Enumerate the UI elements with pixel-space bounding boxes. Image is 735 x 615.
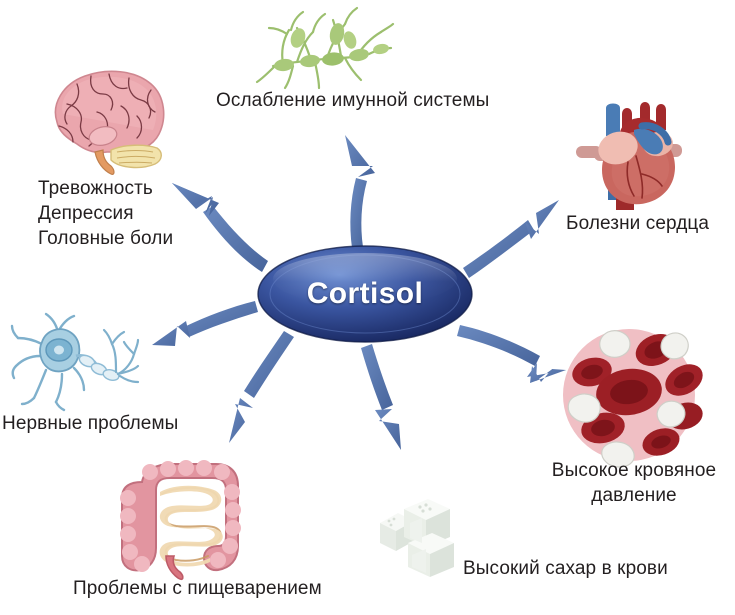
label-mental-line1: Тревожность	[38, 176, 173, 201]
heart-icon	[556, 96, 686, 212]
label-mental-line3: Головные боли	[38, 226, 173, 251]
arrow-to-blood-sugar	[361, 344, 401, 450]
cortisol-ellipse	[257, 245, 473, 343]
arrow-to-mental	[172, 183, 268, 272]
cortisol-diagram: Cortisol	[0, 0, 735, 615]
label-mental-line2: Депрессия	[38, 201, 173, 226]
brain-icon	[33, 60, 173, 178]
blood-cells-icon	[562, 328, 696, 462]
immune-cells-icon	[253, 4, 393, 92]
label-heart: Болезни сердца	[566, 211, 709, 236]
label-digestion: Проблемы с пищеварением	[73, 576, 322, 601]
label-immune: Ослабление имунной системы	[216, 88, 489, 113]
intestine-icon	[112, 458, 248, 584]
arrow-to-digestion	[229, 331, 294, 443]
arrow-to-immune	[345, 135, 375, 248]
arrow-to-nerves	[152, 301, 258, 346]
label-blood-pressure-line1: Высокое кровяное	[534, 458, 734, 483]
label-nerves: Нервные проблемы	[2, 411, 178, 436]
arrow-to-blood-pressure	[457, 325, 566, 383]
center-node-cortisol[interactable]: Cortisol	[257, 245, 473, 343]
label-blood-pressure: Высокое кровяное давление	[534, 458, 734, 508]
neuron-icon	[12, 312, 138, 410]
arrow-to-heart	[463, 200, 559, 278]
label-blood-sugar: Высокий сахар в крови	[463, 556, 668, 581]
sugar-cubes-icon	[352, 497, 468, 577]
label-blood-pressure-line2: давление	[534, 483, 734, 508]
label-mental: Тревожность Депрессия Головные боли	[38, 176, 173, 251]
